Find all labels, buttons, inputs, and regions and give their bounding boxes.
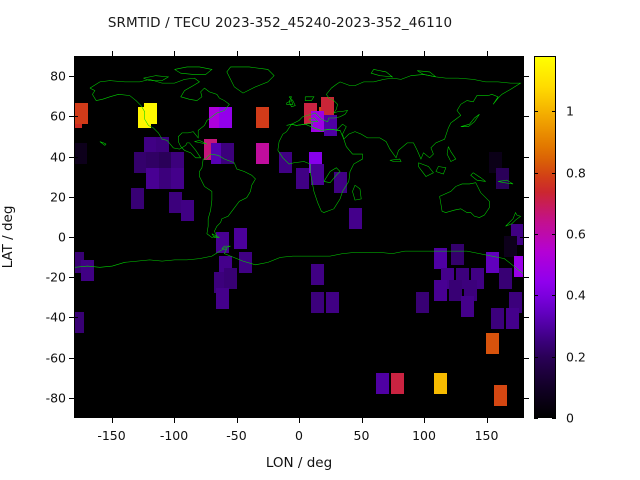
y-tick-mark — [524, 237, 529, 238]
colorbar-tick-mark — [534, 295, 538, 296]
y-tick-mark — [74, 237, 78, 238]
x-tick-mark — [112, 414, 113, 418]
heatmap-cell — [434, 373, 447, 394]
coastline-path — [461, 114, 480, 126]
colorbar-tick-mark — [552, 295, 556, 296]
coastline-path — [199, 154, 255, 237]
y-tick-label: 80 — [26, 69, 66, 84]
coastline-path — [440, 183, 490, 218]
colorbar-tick-label: 0.6 — [566, 226, 586, 241]
y-tick-mark — [74, 398, 78, 399]
y-tick-mark — [520, 237, 524, 238]
x-tick-mark — [174, 56, 175, 60]
heatmap-cell — [391, 373, 404, 394]
coastline-path — [278, 123, 363, 213]
y-tick-mark — [520, 197, 524, 198]
coastline-path — [506, 213, 521, 227]
coastline-path — [143, 76, 168, 81]
coastline-path — [417, 71, 436, 77]
heatmap-cell — [494, 385, 507, 406]
x-tick-label: 150 — [462, 428, 512, 443]
y-tick-mark — [74, 116, 78, 117]
y-tick-mark — [524, 157, 529, 158]
y-tick-mark — [524, 358, 529, 359]
chart-root: SRMTID / TECU 2023-352_45240-2023-352_46… — [0, 0, 640, 480]
colorbar-tick-mark — [534, 234, 538, 235]
x-tick-mark — [487, 56, 488, 60]
colorbar-tick-mark — [552, 418, 556, 419]
heatmap-cell — [326, 292, 339, 313]
colorbar-tick-label: 1 — [566, 104, 574, 119]
coastline-path — [75, 249, 523, 274]
coastline-path — [390, 159, 401, 161]
y-tick-label: -60 — [26, 350, 66, 365]
y-tick-mark — [74, 76, 78, 77]
x-tick-mark — [174, 418, 175, 423]
y-tick-mark — [520, 317, 524, 318]
heatmap-cell — [486, 333, 499, 354]
coastline-path — [175, 67, 212, 74]
y-tick-label: 60 — [26, 109, 66, 124]
colorbar-tick-mark — [552, 173, 556, 174]
heatmap-cell — [376, 373, 389, 394]
y-tick-label: 20 — [26, 189, 66, 204]
x-tick-mark — [174, 414, 175, 418]
y-tick-mark — [520, 76, 524, 77]
y-tick-mark — [524, 116, 529, 117]
y-tick-label: -40 — [26, 310, 66, 325]
colorbar-tick-label: 0.4 — [566, 288, 586, 303]
x-tick-mark — [424, 56, 425, 60]
coastline-path — [371, 69, 392, 76]
colorbar-tick-label: 0.2 — [566, 349, 586, 364]
x-tick-mark — [299, 418, 300, 423]
heatmap-cell — [416, 292, 429, 313]
colorbar-tick-mark — [534, 418, 538, 419]
y-tick-mark — [74, 157, 78, 158]
x-tick-mark — [424, 418, 425, 423]
heatmap-cell — [311, 292, 324, 313]
colorbar-tick-mark — [552, 357, 556, 358]
heatmap-cell — [216, 288, 229, 309]
y-tick-label: 0 — [26, 230, 66, 245]
x-tick-mark — [299, 56, 300, 60]
coastline-path — [436, 167, 446, 174]
coastline-path — [309, 118, 318, 122]
y-tick-mark — [524, 76, 529, 77]
coastline-path — [447, 147, 456, 162]
colorbar-tick-label: 0.8 — [566, 165, 586, 180]
coastline-path — [418, 163, 433, 177]
heatmap-cell — [74, 312, 84, 333]
coastline-path — [498, 180, 513, 184]
x-tick-mark — [487, 414, 488, 418]
coastline-path — [90, 78, 229, 158]
coastline-path — [305, 97, 314, 101]
heatmap-cell — [449, 280, 462, 301]
y-tick-mark — [74, 358, 78, 359]
coastline-path — [324, 168, 340, 183]
heatmap-cell — [491, 308, 504, 329]
x-tick-mark — [487, 418, 488, 423]
map-plot-area — [74, 56, 524, 418]
heatmap-cell — [461, 296, 474, 317]
x-tick-label: -150 — [87, 428, 137, 443]
colorbar-tick-mark — [534, 111, 538, 112]
x-tick-mark — [112, 418, 113, 423]
colorbar-tick-label: 0 — [566, 411, 574, 426]
coastline-path — [227, 67, 274, 93]
x-tick-mark — [362, 418, 363, 423]
y-tick-mark — [520, 398, 524, 399]
heatmap-cell — [506, 308, 519, 329]
x-tick-mark — [299, 414, 300, 418]
y-tick-mark — [524, 317, 529, 318]
x-tick-mark — [362, 56, 363, 60]
x-tick-mark — [362, 414, 363, 418]
x-tick-mark — [237, 414, 238, 418]
chart-title: SRMTID / TECU 2023-352_45240-2023-352_46… — [0, 15, 560, 31]
y-tick-mark — [520, 277, 524, 278]
y-tick-mark — [74, 317, 78, 318]
y-tick-mark — [520, 157, 524, 158]
y-tick-mark — [524, 277, 529, 278]
colorbar-tick-mark — [534, 173, 538, 174]
y-tick-label: -80 — [26, 390, 66, 405]
coastline-path — [471, 173, 486, 182]
colorbar-tick-mark — [534, 357, 538, 358]
y-tick-mark — [74, 197, 78, 198]
coastline-path — [353, 185, 362, 200]
x-tick-mark — [237, 418, 238, 423]
x-tick-label: -50 — [212, 428, 262, 443]
coastline-overlay — [75, 57, 523, 281]
y-tick-label: -20 — [26, 270, 66, 285]
x-tick-label: 100 — [399, 428, 449, 443]
y-tick-mark — [74, 277, 78, 278]
y-tick-mark — [520, 116, 524, 117]
y-tick-label: 40 — [26, 149, 66, 164]
x-tick-label: -100 — [149, 428, 199, 443]
x-tick-label: 0 — [274, 428, 324, 443]
coastline-path — [100, 142, 106, 146]
colorbar-tick-mark — [552, 234, 556, 235]
coastline-path — [194, 140, 206, 144]
y-axis-title: LAT / deg — [0, 206, 16, 269]
x-axis-title: LON / deg — [266, 455, 332, 471]
x-tick-label: 50 — [337, 428, 387, 443]
x-tick-mark — [424, 414, 425, 418]
heatmap-cell — [434, 280, 447, 301]
y-tick-mark — [520, 358, 524, 359]
coastline-path — [287, 74, 521, 159]
x-tick-mark — [112, 56, 113, 60]
colorbar-tick-mark — [552, 111, 556, 112]
coastline-path — [222, 246, 231, 248]
y-tick-mark — [524, 398, 529, 399]
y-tick-mark — [524, 197, 529, 198]
x-tick-mark — [237, 56, 238, 60]
